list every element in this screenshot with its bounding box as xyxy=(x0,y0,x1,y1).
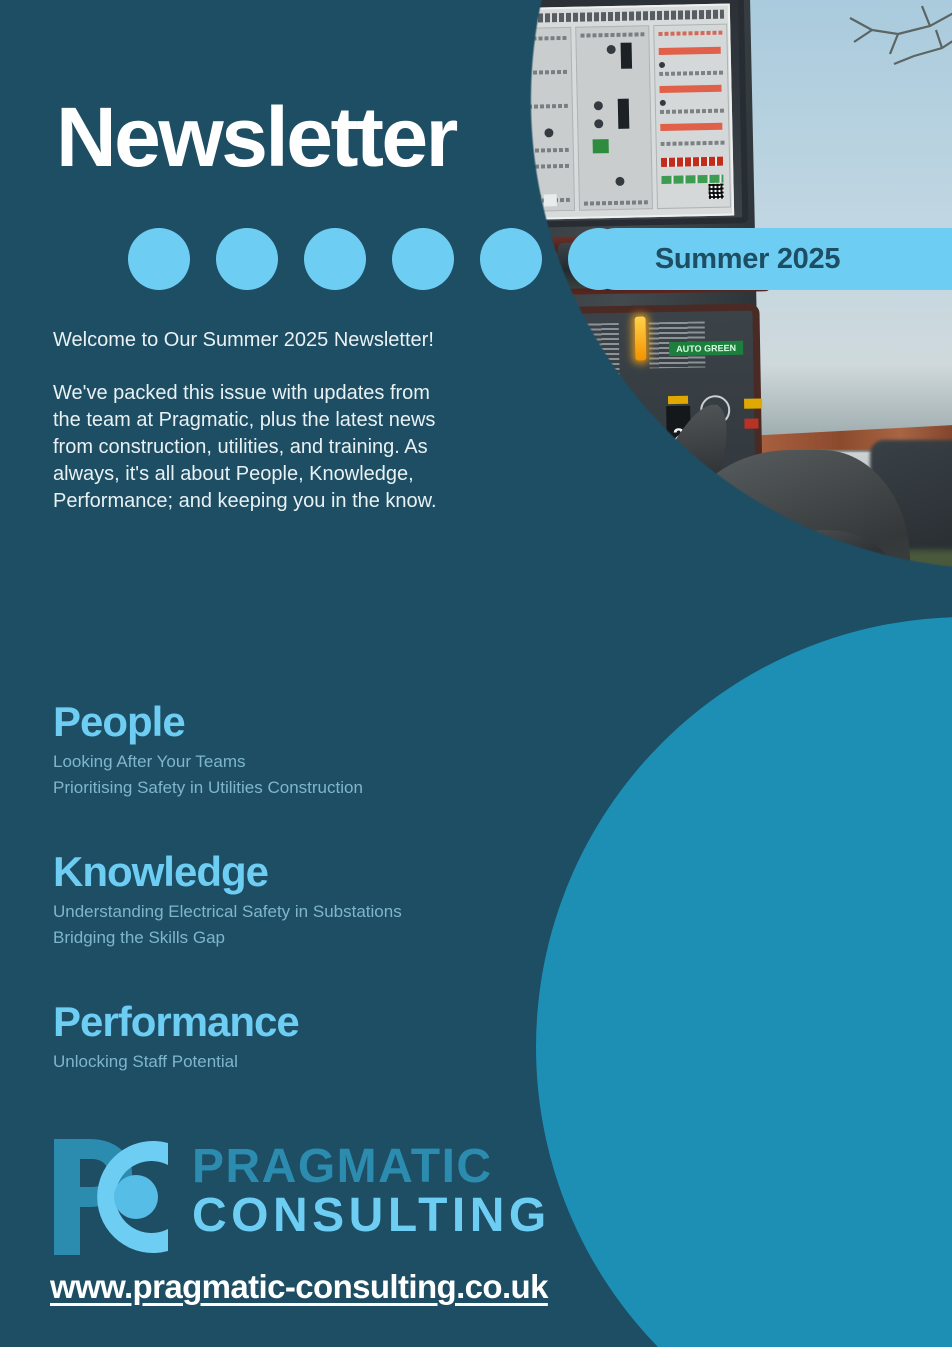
decorative-dot xyxy=(480,228,542,290)
tree-branch-icon xyxy=(810,0,952,120)
section-knowledge: Knowledge Understanding Electrical Safet… xyxy=(53,850,402,950)
section-item: Looking After Your Teams xyxy=(53,749,363,775)
section-title: Knowledge xyxy=(53,850,402,894)
section-title: People xyxy=(53,700,363,744)
company-logo: PRAGMATIC CONSULTING xyxy=(50,1133,510,1261)
decorative-dot xyxy=(128,228,190,290)
season-badge: Summer 2025 xyxy=(585,228,952,290)
section-people: People Looking After Your Teams Prioriti… xyxy=(53,700,363,800)
section-item: Unlocking Staff Potential xyxy=(53,1049,299,1075)
decorative-dot xyxy=(392,228,454,290)
section-item: Bridging the Skills Gap xyxy=(53,925,402,951)
photo-auto-green-label: AUTO GREEN xyxy=(669,341,743,356)
newsletter-cover-page: ! 30 xyxy=(0,0,952,1347)
logo-line-2: CONSULTING xyxy=(192,1192,551,1241)
photo-instruction-label: ! 30 xyxy=(490,4,734,221)
decorative-dot xyxy=(304,228,366,290)
intro-paragraph-2: We've packed this issue with updates fro… xyxy=(53,380,453,515)
section-item: Prioritising Safety in Utilities Constru… xyxy=(53,775,363,801)
decorative-dot xyxy=(216,228,278,290)
intro-paragraph-1: Welcome to Our Summer 2025 Newsletter! xyxy=(53,327,453,354)
section-item: Understanding Electrical Safety in Subst… xyxy=(53,899,402,925)
season-badge-label: Summer 2025 xyxy=(655,243,840,276)
logo-line-1: PRAGMATIC xyxy=(192,1143,551,1192)
section-title: Performance xyxy=(53,1000,299,1044)
section-performance: Performance Unlocking Staff Potential xyxy=(53,1000,299,1075)
intro-text-block: Welcome to Our Summer 2025 Newsletter! W… xyxy=(53,327,453,515)
page-title: Newsletter xyxy=(56,95,456,179)
pragmatic-logo-mark-icon xyxy=(50,1133,176,1261)
website-url[interactable]: www.pragmatic-consulting.co.uk xyxy=(50,1268,548,1306)
